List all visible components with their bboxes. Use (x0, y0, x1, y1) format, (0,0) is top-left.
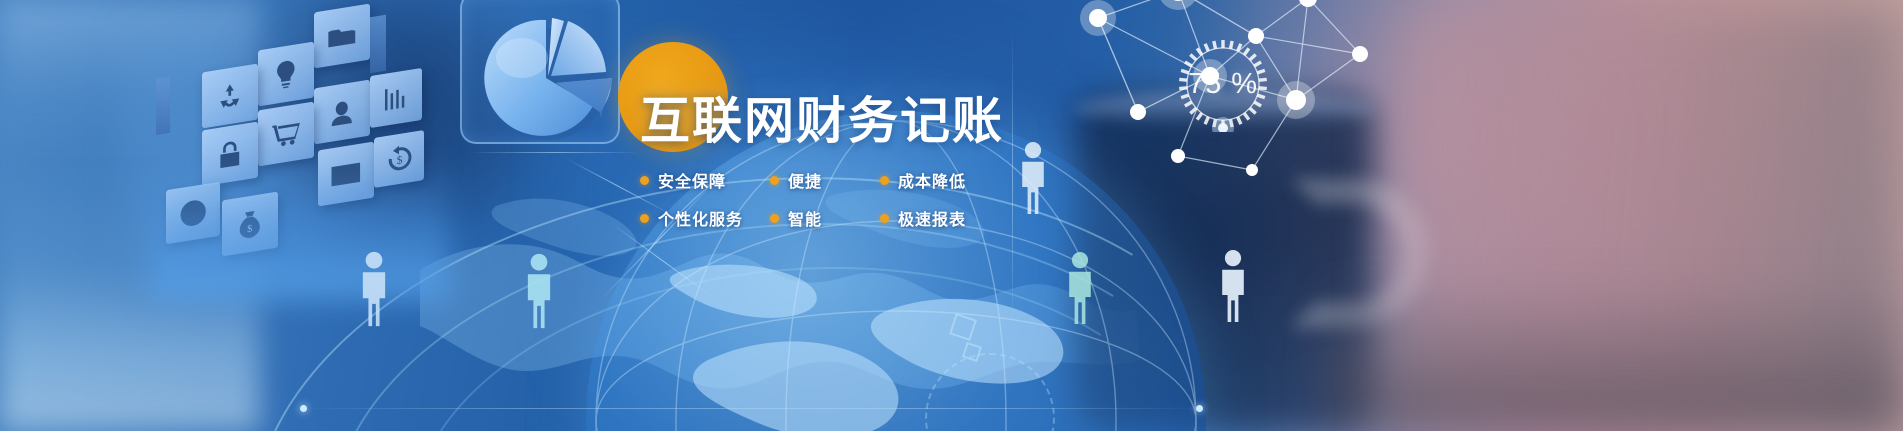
clock-check-icon (166, 182, 220, 245)
pie-chart-3d (460, 0, 640, 158)
bullet-dot-icon (770, 214, 779, 223)
copy-block: 互联网财务记账 安全保障 便捷 成本降低 个性化 (640, 96, 1060, 244)
money-refresh-icon: $ (374, 130, 424, 188)
shopping-cart-icon (258, 102, 314, 167)
bullet-dot-icon (640, 214, 649, 223)
person-icon (314, 80, 370, 145)
lock-icon (202, 122, 258, 187)
feature-item: 成本降低 (880, 168, 1000, 192)
feature-item: 智能 (770, 206, 880, 230)
feature-label: 成本降低 (898, 168, 966, 192)
feature-row: 个性化服务 智能 极速报表 (640, 206, 1060, 230)
feature-item: 安全保障 (640, 168, 770, 192)
banner-root: $ $ $ (0, 0, 1903, 431)
decor-line-1 (470, 152, 640, 153)
feature-item: 便捷 (770, 168, 880, 192)
feature-row: 安全保障 便捷 成本降低 (640, 168, 1060, 192)
cube-side-1 (370, 15, 386, 74)
pie-chart-panel (460, 0, 620, 144)
bullet-dot-icon (880, 214, 889, 223)
recycle-icon (202, 64, 258, 129)
decor-node-dot (300, 405, 307, 412)
progress-gauge: 75 % (1175, 36, 1271, 132)
business-icon-cube: $ $ $ (168, 0, 428, 236)
bar-chart-icon (370, 68, 422, 128)
feature-list: 安全保障 便捷 成本降低 个性化服务 智能 (640, 168, 1060, 230)
bullet-dot-icon (770, 176, 779, 185)
decor-bottom-rule (300, 408, 1200, 409)
person-pictogram (520, 252, 558, 330)
cube-side-2 (156, 77, 170, 135)
feature-label: 智能 (788, 206, 822, 230)
decor-node-dot (1196, 405, 1203, 412)
svg-text:$: $ (397, 153, 403, 167)
feature-label: 极速报表 (898, 206, 966, 230)
feature-label: 便捷 (788, 168, 822, 192)
bokeh-floor-shadow (1330, 281, 1903, 431)
credit-card-icon: $ (318, 142, 374, 207)
folder-icon (314, 4, 370, 69)
page-title: 互联网财务记账 (640, 96, 1060, 146)
lightbulb-icon (258, 42, 314, 107)
person-pictogram (355, 250, 393, 328)
feature-label: 安全保障 (658, 168, 726, 192)
feature-item: 个性化服务 (640, 206, 770, 230)
svg-text:$: $ (247, 224, 252, 236)
bullet-dot-icon (640, 176, 649, 185)
svg-text:$: $ (344, 172, 349, 183)
money-bag-icon: $ (222, 192, 278, 257)
gauge-value-label: 75 % (1175, 36, 1271, 132)
bullet-dot-icon (880, 176, 889, 185)
feature-item: 极速报表 (880, 206, 1000, 230)
feature-label: 个性化服务 (658, 206, 743, 230)
